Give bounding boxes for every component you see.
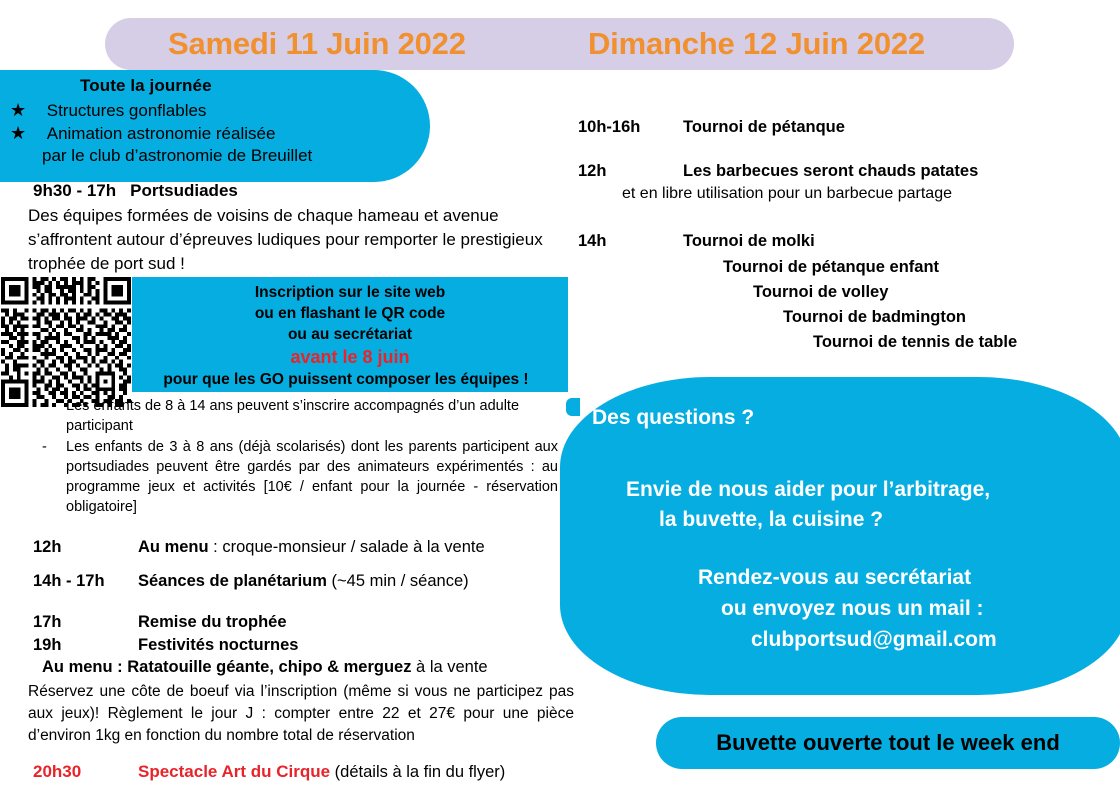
inscription-line-2: ou en flashant le QR code [132,305,568,323]
questions-help-line-2: la buvette, la cuisine ? [659,508,883,532]
list-item: - Les enfants de 3 à 8 ans (déjà scolari… [30,437,558,517]
inscription-line-5: pour que les GO puissent composer les éq… [128,371,564,389]
questions-help-line-1: Envie de nous aider pour l’arbitrage, [626,478,990,502]
schedule-label-rest: (~45 min / séance) [327,572,469,590]
contact-email[interactable]: clubportsud@gmail.com [751,628,997,652]
barbecue-time: 12h [578,162,683,181]
list-item-label: Les enfants de 8 à 14 ans peuvent s’insc… [66,398,519,434]
inscription-line-3: ou au secrétariat [132,326,568,344]
portsudiades-time: 9h30 - 17h [33,181,116,200]
all-day-block: Toute la journée ★ Structures gonflables… [0,72,440,182]
tournament-label-4: Tournoi de tennis de table [578,330,1017,355]
qr-code-icon[interactable] [0,277,132,407]
schedule-time: 12h [33,538,138,557]
qr-code-svg [0,277,132,407]
circus-time: 20h30 [33,762,138,782]
schedule-time: 14h - 17h [33,572,138,591]
schedule-row-14h-17h: 14h - 17hSéances de planétarium (~45 min… [33,572,469,591]
schedule-row-19h: 19hFestivités nocturnes [33,636,298,655]
schedule-label-bold: Remise du trophée [138,613,287,631]
all-day-item-2-cont: par le club d’astronomie de Breuillet [10,146,312,166]
schedule-row-12h: 12hAu menu : croque-monsieur / salade à … [33,538,485,557]
schedule-row-17h: 17hRemise du trophée [33,613,287,632]
list-item-label: Les enfants de 3 à 8 ans (déjà scolarisé… [66,439,558,515]
all-day-item-2-cont-label: par le club d’astronomie de Breuillet [10,146,312,166]
sunday-column: 10h-16hTournoi de pétanque 12hLes barbec… [560,0,1120,792]
star-icon: ★ [10,123,42,144]
all-day-title: Toute la journée [80,76,212,96]
portsudiades-title: Portsudiades [130,181,238,200]
all-day-item-2: ★ Animation astronomie réalisée [10,123,275,144]
schedule-row-20h30: 20h30Spectacle Art du Cirque (détails à … [33,762,505,782]
schedule-time: 17h [33,613,138,632]
schedule-label-rest: : croque-monsieur / salade à la vente [209,538,485,556]
tournament-label-2: Tournoi de volley [578,280,1017,305]
tournament-label-1: Tournoi de pétanque enfant [578,255,1017,280]
beef-reservation-note: Réservez une côte de boeuf via l’inscrip… [28,681,574,747]
schedule-row-tournaments: 14hTournoi de molki [578,232,815,251]
schedule-label-bold: Festivités nocturnes [138,636,298,654]
questions-contact-line-1: Rendez-vous au secrétariat [698,566,971,590]
tournaments-time: 14h [578,232,683,251]
saturday-column: Toute la journée ★ Structures gonflables… [0,0,578,792]
children-notes-list: - Les enfants de 8 à 14 ans peuvent s’in… [30,396,558,518]
barbecue-label: Les barbecues seront chauds patates [683,162,978,180]
list-item: - Les enfants de 8 à 14 ans peuvent s’in… [30,396,558,436]
inscription-deadline: avant le 8 juin [132,347,568,368]
petanque-time: 10h-16h [578,118,683,137]
evening-menu-bold: Au menu : Ratatouille géante, chipo & me… [42,658,411,676]
tournament-label-3: Tournoi de badmington [578,305,1017,330]
inscription-line-1: Inscription sur le site web [132,284,568,302]
all-day-item-2-label: Animation astronomie réalisée [47,124,276,144]
schedule-time: 19h [33,636,138,655]
schedule-label-bold: Séances de planétarium [138,572,327,590]
tournament-label-0: Tournoi de molki [683,232,815,250]
schedule-label-bold: Au menu [138,538,209,556]
all-day-item-1-label: Structures gonflables [47,101,207,121]
tournament-list: Tournoi de pétanque enfant Tournoi de vo… [578,255,1017,355]
schedule-row-petanque: 10h-16hTournoi de pétanque [578,118,845,137]
circus-detail: (détails à la fin du flyer) [330,763,505,781]
star-icon: ★ [10,100,42,121]
buvette-banner-label: Buvette ouverte tout le week end [656,717,1120,769]
petanque-label: Tournoi de pétanque [683,118,845,136]
all-day-item-1: ★ Structures gonflables [10,100,206,121]
questions-contact-line-2: ou envoyez nous un mail : [721,597,984,621]
circus-title: Spectacle Art du Cirque [138,762,330,781]
inscription-banner: Inscription sur le site web ou en flasha… [132,277,568,392]
flyer-page: Samedi 11 Juin 2022 Dimanche 12 Juin 202… [0,0,1120,792]
questions-title: Des questions ? [592,406,754,430]
dash-bullet-icon: - [42,396,47,416]
dash-bullet-icon: - [42,437,47,457]
evening-menu-rest: à la vente [411,658,487,676]
evening-menu-line: Au menu : Ratatouille géante, chipo & me… [42,658,488,677]
barbecue-subtext: et en libre utilisation pour un barbecue… [622,185,952,203]
portsudiades-description: Des équipes formées de voisins de chaque… [28,204,573,276]
schedule-row-barbecue: 12hLes barbecues seront chauds patates [578,162,978,181]
portsudiades-heading: 9h30 - 17hPortsudiades [33,181,238,201]
